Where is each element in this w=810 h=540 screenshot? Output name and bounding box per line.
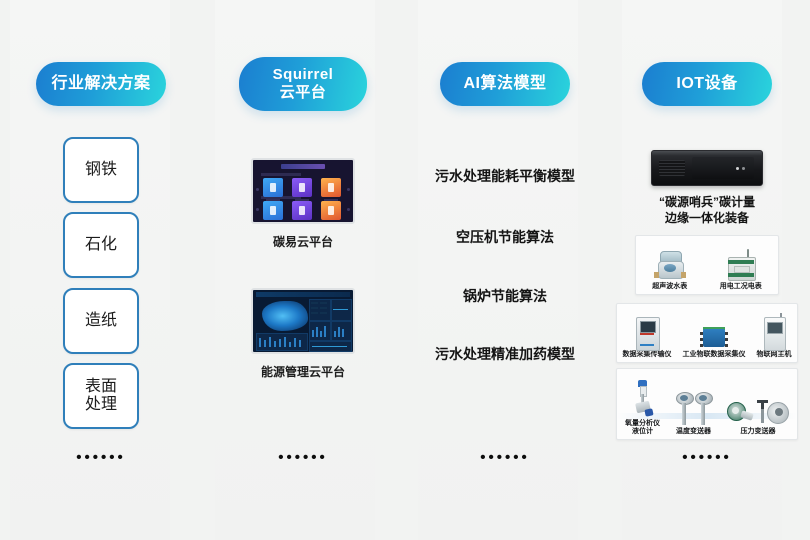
header-pill-ai-algorithm-models[interactable]: AI算法模型 [440,62,570,106]
industrial-iot-collector-icon [700,315,728,349]
carbon-cloud-dashboard-image [251,158,355,224]
featured-device-carbon-sentinel[interactable]: “碳源哨兵”碳计量 边缘一体化装备 [617,150,797,226]
ellipsis-iot-devices: •••••• [682,450,732,465]
device-oxygen-analyzer-level-gauge[interactable]: 氧量分析仪 液位计 [625,378,660,438]
device-iot-host[interactable]: 物联网主机 [757,315,792,360]
header-pill-industry-solutions[interactable]: 行业解决方案 [36,62,166,106]
iot-host-icon [764,315,784,349]
header-pill-label: AI算法模型 [463,75,546,94]
water-meter-icon [657,247,683,281]
column-iot-devices: IOT设备 “碳源哨兵”碳计量 边缘一体化装备 超声波水表 [606,0,808,540]
device-panel-meters: 超声波水表 用电工况电表 [635,235,779,295]
infographic-canvas: 行业解决方案 钢铁 石化 造纸 表面 处理 •••••• Squirrel 云平… [0,0,810,540]
temperature-transmitter-icon [676,386,711,426]
header-pill-label: 行业解决方案 [51,75,150,94]
solution-box-label-line1: 表面 [85,378,117,396]
solution-box-surface-treatment[interactable]: 表面 处理 [63,363,139,429]
header-pill-label-line2: 云平台 [280,84,327,102]
platform-thumb-carbon-cloud[interactable]: 碳易云平台 [251,158,355,250]
device-label: 温度变送器 [676,428,711,437]
device-label: 数据采集传输仪 [623,351,672,360]
ai-model-wastewater-precise-dosing[interactable]: 污水处理精准加药模型 [410,344,600,364]
featured-device-caption-line2: 边缘一体化装备 [617,210,797,226]
oxygen-analyzer-icon [630,378,656,418]
platform-thumb-energy-management[interactable]: 能源管理云平台 [251,288,355,380]
pressure-transmitter-icon [727,386,789,426]
data-acquisition-terminal-icon [636,315,658,349]
column-industry-solutions: 行业解决方案 钢铁 石化 造纸 表面 处理 •••••• [0,0,202,540]
device-industrial-iot-collector[interactable]: 工业物联数据采集仪 [683,315,746,360]
ai-model-boiler-energy-saving[interactable]: 锅炉节能算法 [410,286,600,306]
header-pill-iot-devices[interactable]: IOT设备 [642,62,772,106]
device-panel-transmitters: 氧量分析仪 液位计 温度变送器 [616,368,798,440]
ai-model-air-compressor-saving[interactable]: 空压机节能算法 [410,227,600,247]
platform-thumb-caption: 能源管理云平台 [251,363,355,380]
power-meter-icon [726,247,756,281]
device-ultrasonic-water-meter[interactable]: 超声波水表 [652,247,687,292]
device-label: 物联网主机 [757,351,792,360]
header-pill-squirrel-cloud[interactable]: Squirrel 云平台 [239,57,367,111]
solution-box-label-line2: 处理 [85,396,117,414]
featured-device-caption-line1: “碳源哨兵”碳计量 [617,194,797,210]
platform-thumb-caption: 碳易云平台 [251,233,355,250]
header-pill-label-line1: Squirrel [273,66,334,84]
device-label: 用电工况电表 [720,283,762,292]
device-label-line2: 液位计 [625,428,660,437]
device-label: 压力变送器 [741,428,776,437]
ai-model-wastewater-energy-balance[interactable]: 污水处理能耗平衡模型 [410,166,600,186]
device-power-condition-meter[interactable]: 用电工况电表 [720,247,762,292]
solution-box-label: 造纸 [85,312,117,330]
header-pill-label: IOT设备 [676,75,737,94]
ellipsis-ai-models: •••••• [480,450,530,465]
solution-box-label: 钢铁 [85,161,117,179]
rack-server-icon [651,150,763,186]
device-temperature-transmitter[interactable]: 温度变送器 [676,386,711,437]
device-label-line1: 氧量分析仪 [625,420,660,429]
device-data-acquisition-terminal[interactable]: 数据采集传输仪 [623,315,672,360]
energy-management-dashboard-image [251,288,355,354]
column-squirrel-cloud-platform: Squirrel 云平台 [202,0,404,540]
device-label: 超声波水表 [652,283,687,292]
solution-box-label: 石化 [85,236,117,254]
device-pressure-transmitter[interactable]: 压力变送器 [727,386,789,437]
ellipsis-industry-solutions: •••••• [76,450,126,465]
device-panel-collectors: 数据采集传输仪 工业物联数据采集仪 [616,303,798,363]
column-ai-algorithm-models: AI算法模型 污水处理能耗平衡模型 空压机节能算法 锅炉节能算法 污水处理精准加… [404,0,606,540]
solution-box-papermaking[interactable]: 造纸 [63,288,139,354]
solution-box-petrochemical[interactable]: 石化 [63,212,139,278]
ellipsis-squirrel-cloud: •••••• [278,450,328,465]
solution-box-steel[interactable]: 钢铁 [63,137,139,203]
device-label: 工业物联数据采集仪 [683,351,746,360]
